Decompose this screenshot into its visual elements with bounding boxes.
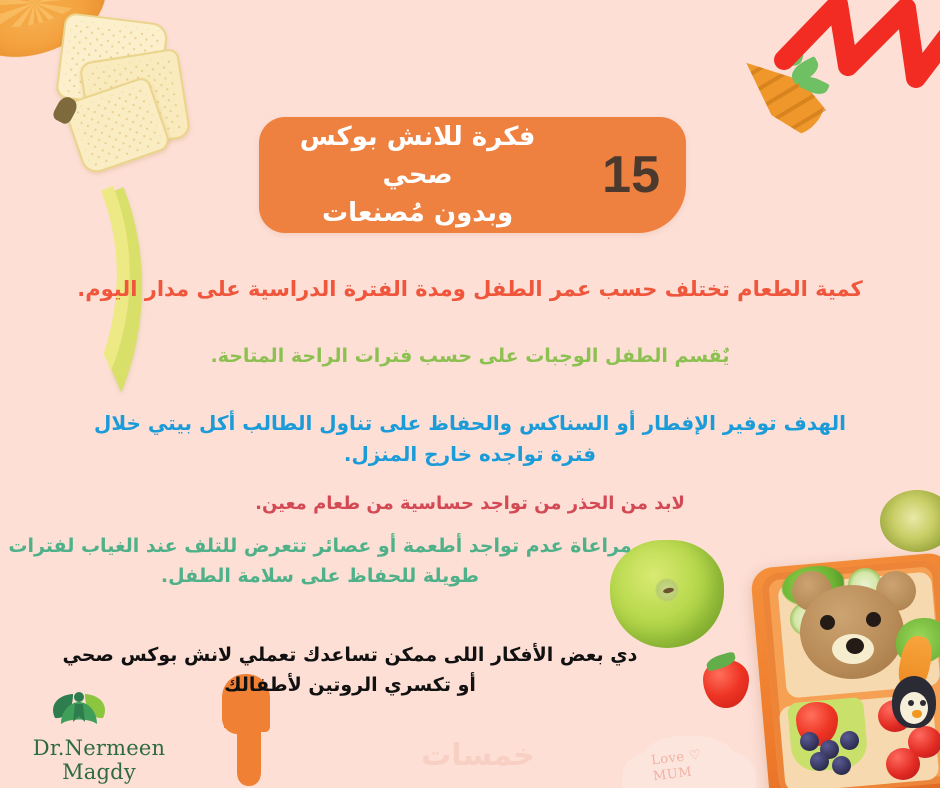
cherry-tomato-image <box>908 726 940 758</box>
watermark: خمسات <box>398 738 558 773</box>
penguin-egg-eye <box>920 700 926 706</box>
strawberry-image <box>796 702 838 746</box>
orange-slice-image <box>0 0 118 71</box>
header-banner: 15 فكرة للانش بوكس صحي وبدون مُصنعات <box>259 117 686 233</box>
bear-sandwich-image <box>800 585 904 679</box>
cracker-piece-icon <box>62 75 172 176</box>
cherry-tomato-image <box>878 700 912 732</box>
banner-title-line-2: وبدون مُصنعات <box>265 194 570 232</box>
crackers-image <box>55 12 169 110</box>
cucumber-slice-image <box>790 602 824 636</box>
bento-tray <box>761 559 940 788</box>
carrot-stick-image <box>895 633 936 694</box>
blueberry-image <box>832 756 851 775</box>
blueberry-image <box>820 740 839 759</box>
carrot-leaf-icon <box>774 46 804 69</box>
carrot-leaf-icon <box>798 73 830 99</box>
blueberry-image <box>810 752 829 771</box>
bear-sandwich-nose <box>846 638 864 654</box>
banner-title: فكرة للانش بوكس صحي وبدون مُصنعات <box>259 118 584 232</box>
blueberry-image <box>840 731 859 750</box>
tip-item-3: الهدف توفير الإفطار أو السناكس والحفاظ ع… <box>70 370 870 470</box>
fruit-cup-image <box>787 697 869 773</box>
carrot-leaf-icon <box>788 56 822 85</box>
leaf-person-logo-icon <box>14 688 184 734</box>
banana-stem <box>51 94 80 126</box>
tip-item-4: لابد من الحذر من تواجد حساسية من طعام مع… <box>70 470 870 517</box>
tip-item-1: كمية الطعام تختلف حسب عمر الطفل ومدة الف… <box>30 268 910 304</box>
penguin-egg-eye <box>908 700 914 706</box>
penguin-egg-beak <box>912 710 922 718</box>
cracker-piece-icon <box>79 48 192 153</box>
strawberry-image <box>703 660 749 708</box>
cherry-tomato-image <box>886 748 920 780</box>
carrot-illustration <box>731 45 831 140</box>
love-mum-note-text: Love ♡MUM <box>650 743 743 786</box>
bento-compartment-bottom <box>779 693 940 788</box>
bear-sandwich-eye <box>866 612 881 627</box>
strawberry-leaf <box>705 651 737 672</box>
red-zigzag-squiggle <box>688 0 940 164</box>
idea-count-number: 15 <box>584 149 686 201</box>
cta-line-1: دي بعض الأفكار اللى ممكن تساعدك تعملي لا… <box>0 640 700 670</box>
bear-sandwich-snout <box>832 634 874 664</box>
tip-item-5: مراعاة عدم تواجد أطعمة أو عصائر تتعرض لل… <box>0 517 640 591</box>
blueberry-image <box>800 732 819 751</box>
tip-item-2: يٌقسم الطفل الوجبات على حسب فترات الراحة… <box>30 304 910 370</box>
penguin-egg-belly <box>900 692 928 724</box>
banner-title-line-1: فكرة للانش بوكس صحي <box>265 118 570 194</box>
logo-name: Dr.Nermeen Magdy <box>14 736 184 784</box>
bear-sandwich-eye <box>820 615 835 630</box>
penguin-egg-image <box>892 676 936 728</box>
poster-canvas: Love ♡MUM 15 فكرة للانش بوكس صحي وبدون م… <box>0 0 940 788</box>
tips-list: كمية الطعام تختلف حسب عمر الطفل ومدة الف… <box>0 268 940 591</box>
brand-logo: Dr.Nermeen Magdy Nutritionist &Health co… <box>14 688 184 788</box>
lettuce-leaf-image <box>896 618 940 664</box>
